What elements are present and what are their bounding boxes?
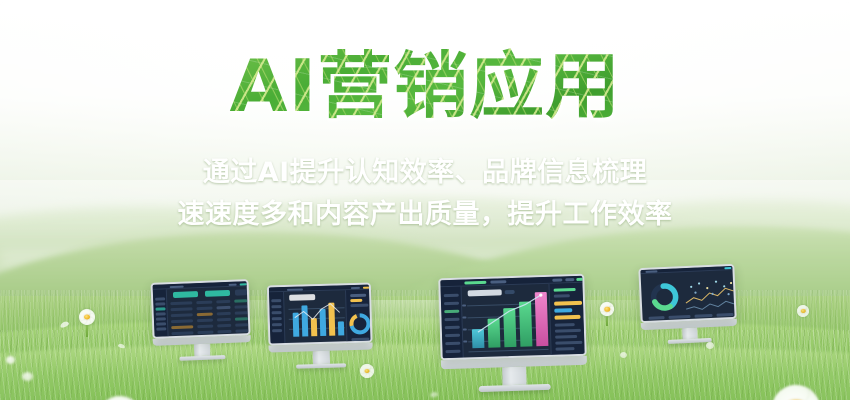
flower-bud-left-2 [22,372,33,381]
monitor-4-analytics-dashboard [638,264,737,345]
monitor-2-donut-icon [347,311,373,338]
monitor-4-dashboard [640,266,734,321]
daisy-left-large [78,382,162,400]
monitor-3-neck [502,367,527,386]
flower-bud-center [620,352,627,358]
subtitle-line-1: 通过AI提升认知效率、品牌信息梳理 [0,152,850,194]
title-container: AI营销应用 [0,48,850,124]
monitor-3-screen [438,274,587,361]
monitor-2-dashboard [269,285,371,344]
monitor-4-screen [638,264,736,323]
monitor-4-gauge-icon [647,279,683,315]
monitor-4-neck [682,328,697,340]
ai-marketing-banner: AI营销应用 通过AI提升认知效率、品牌信息梳理 速速度多和内容产出质量，提升工… [0,0,850,400]
daisy-left-small [70,302,104,332]
flower-bud-right [706,342,714,349]
subtitle-container: 通过AI提升认知效率、品牌信息梳理 速速度多和内容产出质量，提升工作效率 [0,152,850,236]
monitor-3-dashboard [440,276,584,358]
monitor-2-bar-dashboard [267,283,373,370]
daisy-right-upper [790,300,816,322]
flower-bud-left [6,356,15,364]
page-title: AI营销应用 [229,48,621,124]
daisy-right-large [750,370,842,400]
monitor-4-scatter-plot-icon [683,275,737,317]
monitor-2-screen [267,283,373,346]
monitor-1-screen [151,279,251,339]
daisy-center [352,358,382,384]
monitor-1-dashboard [153,281,249,337]
monitor-1-neck [194,344,210,357]
subtitle-line-2: 速速度多和内容产出质量，提升工作效率 [0,194,850,236]
monitor-1-table-dashboard [151,279,252,362]
monitor-2-neck [312,351,329,364]
daisy-right-mid [592,296,622,322]
monitor-3-growth-dashboard [438,274,588,394]
